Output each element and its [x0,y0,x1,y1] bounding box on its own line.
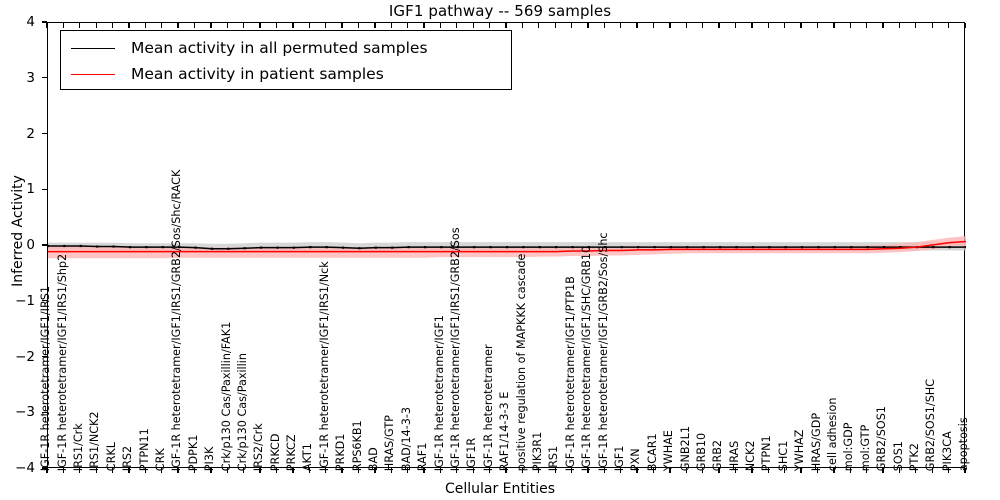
data-point-marker [883,246,885,248]
x-tick-mark [571,468,572,473]
x-tick-mark [391,468,392,473]
data-point-marker [867,246,869,248]
x-tick-mark [210,468,211,473]
x-tick-mark-top [194,23,195,28]
x-tick-mark-top [522,23,523,28]
x-tick-mark-top [850,23,851,28]
x-tick-mark-top [686,23,687,28]
x-tick-mark [702,468,703,473]
x-tick-mark-top [899,23,900,28]
x-tick-mark-top [292,23,293,28]
legend-swatch-permuted [71,48,115,49]
data-point-marker [719,246,721,248]
x-tick-mark [669,468,670,473]
x-tick-mark-top [456,23,457,28]
x-tick-mark-top [915,23,916,28]
x-tick-mark-top [817,23,818,28]
data-point-marker [457,246,459,248]
data-point-marker [178,246,180,248]
data-point-marker [162,246,164,248]
x-tick-mark-top [932,23,933,28]
x-tick-mark [948,468,949,473]
x-tick-mark-top [112,23,113,28]
x-tick-mark [145,468,146,473]
x-tick-mark-top [555,23,556,28]
x-tick-mark-top [358,23,359,28]
x-tick-mark-top [768,23,769,28]
data-point-marker [63,245,65,247]
data-point-marker [555,246,557,248]
data-point-marker [637,246,639,248]
data-point-marker [522,246,524,248]
data-point-marker [506,246,508,248]
legend-item-permuted: Mean activity in all permuted samples [61,35,513,61]
x-tick-mark [653,468,654,473]
x-tick-mark [292,468,293,473]
data-point-marker [588,246,590,248]
x-tick-mark [620,468,621,473]
data-point-marker [145,246,147,248]
x-tick-mark-top [653,23,654,28]
x-tick-mark-top [177,23,178,28]
x-tick-mark [718,468,719,473]
x-tick-mark [784,468,785,473]
data-point-marker [932,246,934,248]
data-point-marker [490,246,492,248]
data-point-marker [424,246,426,248]
x-tick-mark-top [161,23,162,28]
x-tick-mark [243,468,244,473]
x-tick-mark [309,468,310,473]
data-point-marker [358,247,360,249]
data-point-marker [112,245,114,247]
x-tick-mark [587,468,588,473]
x-tick-mark-top [46,23,47,28]
x-tick-mark [407,468,408,473]
x-tick-mark-top [735,23,736,28]
data-point-marker [260,247,262,249]
x-tick-mark-top [391,23,392,28]
data-point-marker [686,246,688,248]
x-tick-mark [751,468,752,473]
x-tick-mark-top [227,23,228,28]
x-tick-mark-top [604,23,605,28]
data-point-marker [375,247,377,249]
x-tick-mark-top [489,23,490,28]
data-point-marker [96,245,98,247]
x-tick-mark [915,468,916,473]
x-tick-mark [538,468,539,473]
x-tick-mark [177,468,178,473]
x-tick-mark-top [702,23,703,28]
x-tick-mark [636,468,637,473]
x-tick-mark [604,468,605,473]
legend-label-patient: Mean activity in patient samples [131,65,384,83]
data-point-marker [621,246,623,248]
x-tick-mark [259,468,260,473]
legend-item-patient: Mean activity in patient samples [61,61,513,87]
x-tick-mark-top [145,23,146,28]
data-point-marker [440,246,442,248]
x-axis-label: Cellular Entities [0,481,1000,497]
x-tick-mark [768,468,769,473]
x-tick-mark-top [210,23,211,28]
data-point-marker [949,246,951,248]
x-tick-mark-top [620,23,621,28]
data-point-marker [785,246,787,248]
x-tick-mark [964,468,965,473]
x-tick-mark [374,468,375,473]
x-tick-mark [456,468,457,473]
x-tick-mark-top [407,23,408,28]
x-tick-mark [833,468,834,473]
data-point-marker [703,246,705,248]
data-point-marker [129,246,131,248]
data-point-marker [604,246,606,248]
data-point-marker [408,246,410,248]
x-tick-mark [932,468,933,473]
data-point-marker [653,246,655,248]
data-point-marker [965,246,966,248]
x-tick-mark-top [440,23,441,28]
x-tick-mark [194,468,195,473]
data-point-marker [342,247,344,249]
x-tick-mark [63,468,64,473]
x-tick-mark-top [833,23,834,28]
data-point-marker [735,246,737,248]
x-tick-mark-top [63,23,64,28]
x-tick-mark-top [571,23,572,28]
x-tick-mark-top [964,23,965,28]
x-tick-mark-top [948,23,949,28]
x-tick-mark [161,468,162,473]
x-tick-mark-top [866,23,867,28]
x-tick-mark-top [473,23,474,28]
data-point-marker [850,246,852,248]
x-tick-mark-top [374,23,375,28]
x-tick-mark-top [800,23,801,28]
data-point-marker [817,246,819,248]
x-tick-mark-top [784,23,785,28]
x-tick-mark-top [587,23,588,28]
data-point-marker [276,247,278,249]
x-tick-mark [358,468,359,473]
legend: Mean activity in all permuted samples Me… [60,30,512,90]
x-tick-mark [555,468,556,473]
data-point-marker [834,246,836,248]
x-tick-mark-top [79,23,80,28]
data-point-marker [194,247,196,249]
x-tick-mark [817,468,818,473]
data-point-marker [391,247,393,249]
x-tick-mark [325,468,326,473]
x-tick-mark-top [96,23,97,28]
x-tick-mark-top [882,23,883,28]
x-tick-mark-top [718,23,719,28]
data-point-marker [293,247,295,249]
x-tick-mark [899,468,900,473]
data-point-marker [768,246,770,248]
x-axis-ticks [47,468,965,474]
x-tick-mark [686,468,687,473]
x-tick-mark [473,468,474,473]
x-tick-mark-top [505,23,506,28]
data-point-marker [670,246,672,248]
x-tick-mark [46,468,47,473]
x-tick-mark [112,468,113,473]
x-tick-mark-top [325,23,326,28]
x-tick-mark-top [276,23,277,28]
data-point-marker [539,246,541,248]
data-point-marker [571,246,573,248]
x-tick-mark-top [259,23,260,28]
x-tick-mark [227,468,228,473]
x-tick-mark-top [751,23,752,28]
data-point-marker [801,246,803,248]
x-tick-mark [882,468,883,473]
data-point-marker [752,246,754,248]
x-tick-mark [128,468,129,473]
legend-label-permuted: Mean activity in all permuted samples [131,39,428,57]
x-tick-mark-top [669,23,670,28]
x-tick-mark [522,468,523,473]
y-axis-ticks [0,22,47,468]
x-tick-mark [800,468,801,473]
x-tick-mark-top [636,23,637,28]
x-tick-mark [423,468,424,473]
x-tick-mark-top [128,23,129,28]
x-tick-mark-top [243,23,244,28]
x-axis-top-ticks [47,22,965,28]
data-point-marker [211,248,213,250]
x-tick-mark [489,468,490,473]
x-tick-mark [96,468,97,473]
x-tick-mark [866,468,867,473]
x-tick-mark [276,468,277,473]
x-tick-mark [850,468,851,473]
x-tick-mark-top [538,23,539,28]
data-point-marker [227,248,229,250]
data-point-marker [326,246,328,248]
figure-canvas: IGF1 pathway -- 569 samples Inferred Act… [0,0,1000,500]
x-tick-mark-top [309,23,310,28]
x-tick-mark-top [341,23,342,28]
x-tick-mark [79,468,80,473]
chart-title: IGF1 pathway -- 569 samples [0,2,1000,20]
legend-swatch-patient [71,74,115,75]
x-tick-mark [735,468,736,473]
x-tick-mark-top [423,23,424,28]
data-point-marker [473,246,475,248]
data-point-marker [80,245,82,247]
data-point-marker [309,246,311,248]
x-tick-mark [341,468,342,473]
x-tick-mark [440,468,441,473]
x-tick-mark [505,468,506,473]
data-point-marker [48,245,49,247]
data-point-marker [244,247,246,249]
